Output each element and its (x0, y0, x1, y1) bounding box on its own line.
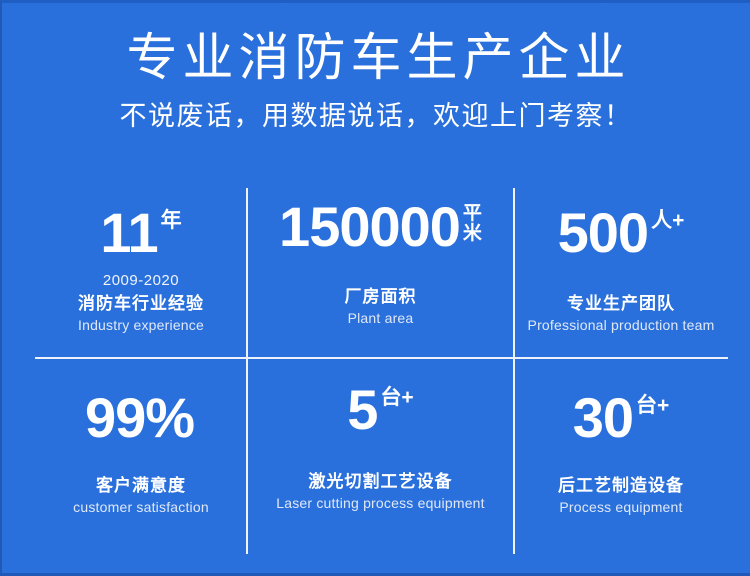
stat-year-range: 2009-2020 (103, 271, 179, 291)
stat-label-cn: 专业生产团队 (567, 293, 675, 315)
stat-value-row: 150000 平 米 (279, 198, 482, 256)
stat-label-cn: 激光切割工艺设备 (309, 471, 453, 493)
stat-unit-top: 平 (463, 204, 482, 224)
stat-number: 11 (100, 204, 157, 262)
stat-number: 150000 (279, 198, 460, 256)
stat-label-cn: 客户满意度 (96, 475, 186, 497)
stat-cell-laser-cutting-equipment: 5 台+ 激光切割工艺设备 Laser cutting process equi… (247, 357, 514, 554)
stat-label-en: Industry experience (78, 315, 204, 335)
stat-value-row: 30 台+ (573, 389, 670, 447)
stat-label-cn: 后工艺制造设备 (558, 475, 684, 497)
stats-grid: 11 年 2009-2020 消防车行业经验 Industry experien… (35, 188, 728, 554)
stat-cell-industry-experience: 11 年 2009-2020 消防车行业经验 Industry experien… (35, 188, 247, 357)
stat-number: 5 (347, 381, 377, 439)
stat-cell-process-equipment: 30 台+ 后工艺制造设备 Process equipment (514, 357, 728, 554)
stat-number: 500 (558, 204, 648, 262)
stat-unit: 平 米 (463, 198, 482, 244)
stat-cell-production-team: 500 人+ 专业生产团队 Professional production te… (514, 188, 728, 357)
stat-label-cn: 厂房面积 (345, 286, 417, 308)
stat-label-en: Laser cutting process equipment (276, 493, 485, 513)
stat-value-row: 99% (85, 389, 197, 447)
page-title: 专业消防车生产企业 (2, 25, 750, 91)
banner-header: 专业消防车生产企业 不说废话，用数据说话，欢迎上门考察！ (2, 3, 750, 135)
stat-value-row: 5 台+ (347, 381, 413, 439)
stat-unit: 年 (161, 204, 182, 232)
stat-value-row: 500 人+ (558, 204, 685, 262)
stat-number: 30 (573, 389, 633, 447)
stat-unit: 台+ (380, 381, 413, 409)
stat-cell-plant-area: 150000 平 米 厂房面积 Plant area (247, 188, 514, 357)
stat-value-row: 11 年 (100, 204, 181, 262)
stat-label-en: Process equipment (559, 497, 682, 517)
stat-label-en: Professional production team (528, 315, 715, 335)
stat-label-cn: 消防车行业经验 (78, 293, 204, 315)
stat-label-en: customer satisfaction (73, 497, 209, 517)
stat-unit: 人+ (651, 204, 684, 232)
stat-label-en: Plant area (348, 308, 414, 328)
page-subtitle: 不说废话，用数据说话，欢迎上门考察！ (2, 97, 750, 135)
stat-unit: 台+ (636, 389, 669, 417)
stat-number: 99% (85, 389, 194, 447)
stat-cell-customer-satisfaction: 99% 客户满意度 customer satisfaction (35, 357, 247, 554)
promo-banner: 专业消防车生产企业 不说废话，用数据说话，欢迎上门考察！ 11 年 2009-2… (0, 0, 750, 576)
stat-unit-bottom: 米 (463, 224, 482, 244)
